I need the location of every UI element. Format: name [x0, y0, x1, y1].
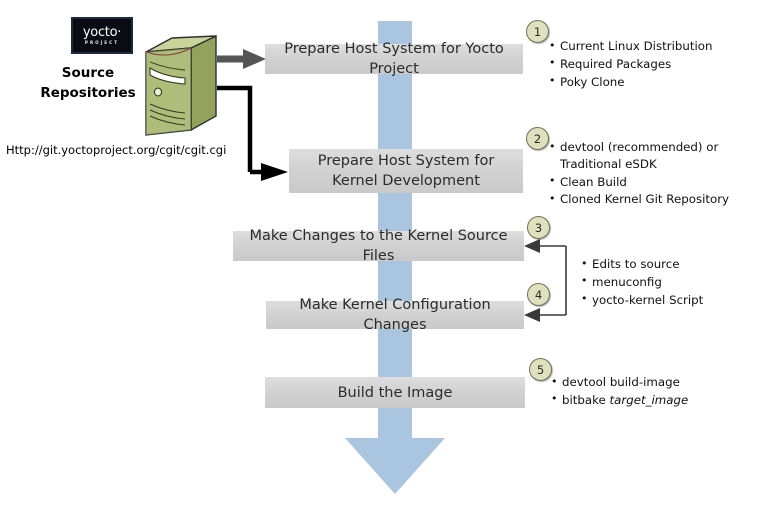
- list-item: devtool build-image: [551, 374, 741, 391]
- process-box-step-5[interactable]: Build the Image: [265, 377, 525, 408]
- list-item: menuconfig: [581, 274, 741, 291]
- list-item: Current Linux Distribution: [549, 38, 749, 55]
- source-label-line-1: Source: [32, 64, 144, 84]
- step-badge-5: 5: [529, 358, 552, 381]
- step-badge-4: 4: [527, 283, 550, 306]
- list-item: Poky Clone: [549, 74, 749, 91]
- source-repositories-label: Source Repositories: [32, 64, 144, 103]
- step-badge-2: 2: [526, 127, 549, 150]
- source-label-line-2: Repositories: [32, 84, 144, 104]
- list-item: Required Packages: [549, 56, 749, 73]
- process-box-step-4[interactable]: Make Kernel Configuration Changes: [266, 301, 524, 329]
- process-box-step-2[interactable]: Prepare Host System for Kernel Developme…: [289, 149, 523, 193]
- yocto-logo-subtitle: PROJECT: [85, 41, 119, 45]
- process-box-step-1[interactable]: Prepare Host System for Yocto Project: [265, 44, 523, 74]
- yocto-logo-text: yocto: [83, 25, 117, 40]
- list-item: yocto-kernel Script: [581, 292, 741, 309]
- yocto-logo-word: yocto·: [83, 26, 121, 39]
- bullet-list-step-5: devtool build-image bitbake target_image: [551, 374, 741, 410]
- bullet-list-steps-3-4: Edits to source menuconfig yocto-kernel …: [581, 256, 741, 309]
- list-item-emphasis: target_image: [610, 393, 689, 407]
- feedback-loop-steps-3-4: [524, 239, 566, 322]
- arrow-server-to-step1: [217, 49, 266, 69]
- diagram-canvas: yocto· PROJECT Source Repositories Http:…: [0, 0, 769, 517]
- arrow-server-to-step2: [217, 88, 288, 181]
- list-item: Clean Build: [549, 174, 749, 191]
- source-repository-url: Http://git.yoctoproject.org/cgit/cgit.cg…: [6, 143, 226, 157]
- list-item: Edits to source: [581, 256, 741, 273]
- list-item: Cloned Kernel Git Repository: [549, 191, 749, 208]
- list-item: devtool (recommended) or Traditional eSD…: [549, 139, 749, 173]
- server-tower-icon: [138, 30, 218, 140]
- process-box-step-3[interactable]: Make Changes to the Kernel Source Files: [233, 231, 524, 261]
- list-item-text: bitbake: [562, 393, 610, 407]
- list-item: bitbake target_image: [551, 392, 741, 409]
- bullet-list-step-1: Current Linux Distribution Required Pack…: [549, 38, 749, 91]
- yocto-project-logo: yocto· PROJECT: [71, 17, 133, 54]
- yocto-logo-dot: ·: [117, 25, 121, 40]
- main-flow-arrow-head: [345, 438, 445, 494]
- step-badge-1: 1: [526, 20, 549, 43]
- bullet-list-step-2: devtool (recommended) or Traditional eSD…: [549, 139, 749, 209]
- step-badge-3: 3: [527, 216, 550, 239]
